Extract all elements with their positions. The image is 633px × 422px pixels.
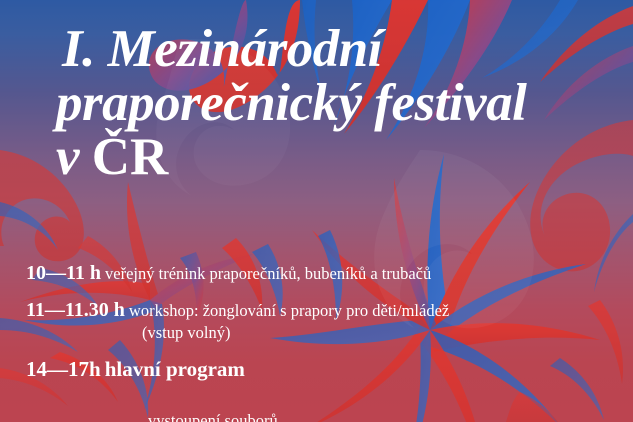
- poster-title: I. Mezinárodní praporečnický festival v …: [62, 22, 622, 184]
- schedule-row: 14—17h hlavní program: [26, 357, 626, 382]
- title-line-3-country: ČR: [92, 128, 169, 186]
- schedule-row: 10—11 h veřejný trénink praporečníků, bu…: [26, 262, 626, 285]
- title-line-2: praporečnický festival: [56, 76, 622, 130]
- schedule-row: 11—11.30 h workshop: žonglování s prapor…: [26, 299, 626, 343]
- schedule-time: 14—17h: [26, 357, 101, 381]
- title-line-3-prefix: v: [56, 128, 92, 186]
- poster-text-layer: I. Mezinárodní praporečnický festival v …: [0, 0, 633, 422]
- schedule-cutoff-line: vystoupení souborů: [148, 411, 278, 422]
- schedule-description: workshop: žonglování s prapory pro děti/…: [129, 301, 449, 320]
- schedule-list: 10—11 h veřejný trénink praporečníků, bu…: [26, 262, 626, 396]
- schedule-subnote: (vstup volný): [142, 323, 626, 343]
- schedule-time: 11—11.30 h: [26, 299, 125, 321]
- schedule-time: 10—11 h: [26, 262, 101, 284]
- poster-canvas: I. Mezinárodní praporečnický festival v …: [0, 0, 633, 422]
- schedule-description: hlavní program: [105, 357, 245, 381]
- title-line-1: I. Mezinárodní: [62, 22, 622, 76]
- title-line-3: v ČR: [56, 130, 622, 184]
- schedule-description: veřejný trénink praporečníků, bubeníků a…: [105, 264, 431, 283]
